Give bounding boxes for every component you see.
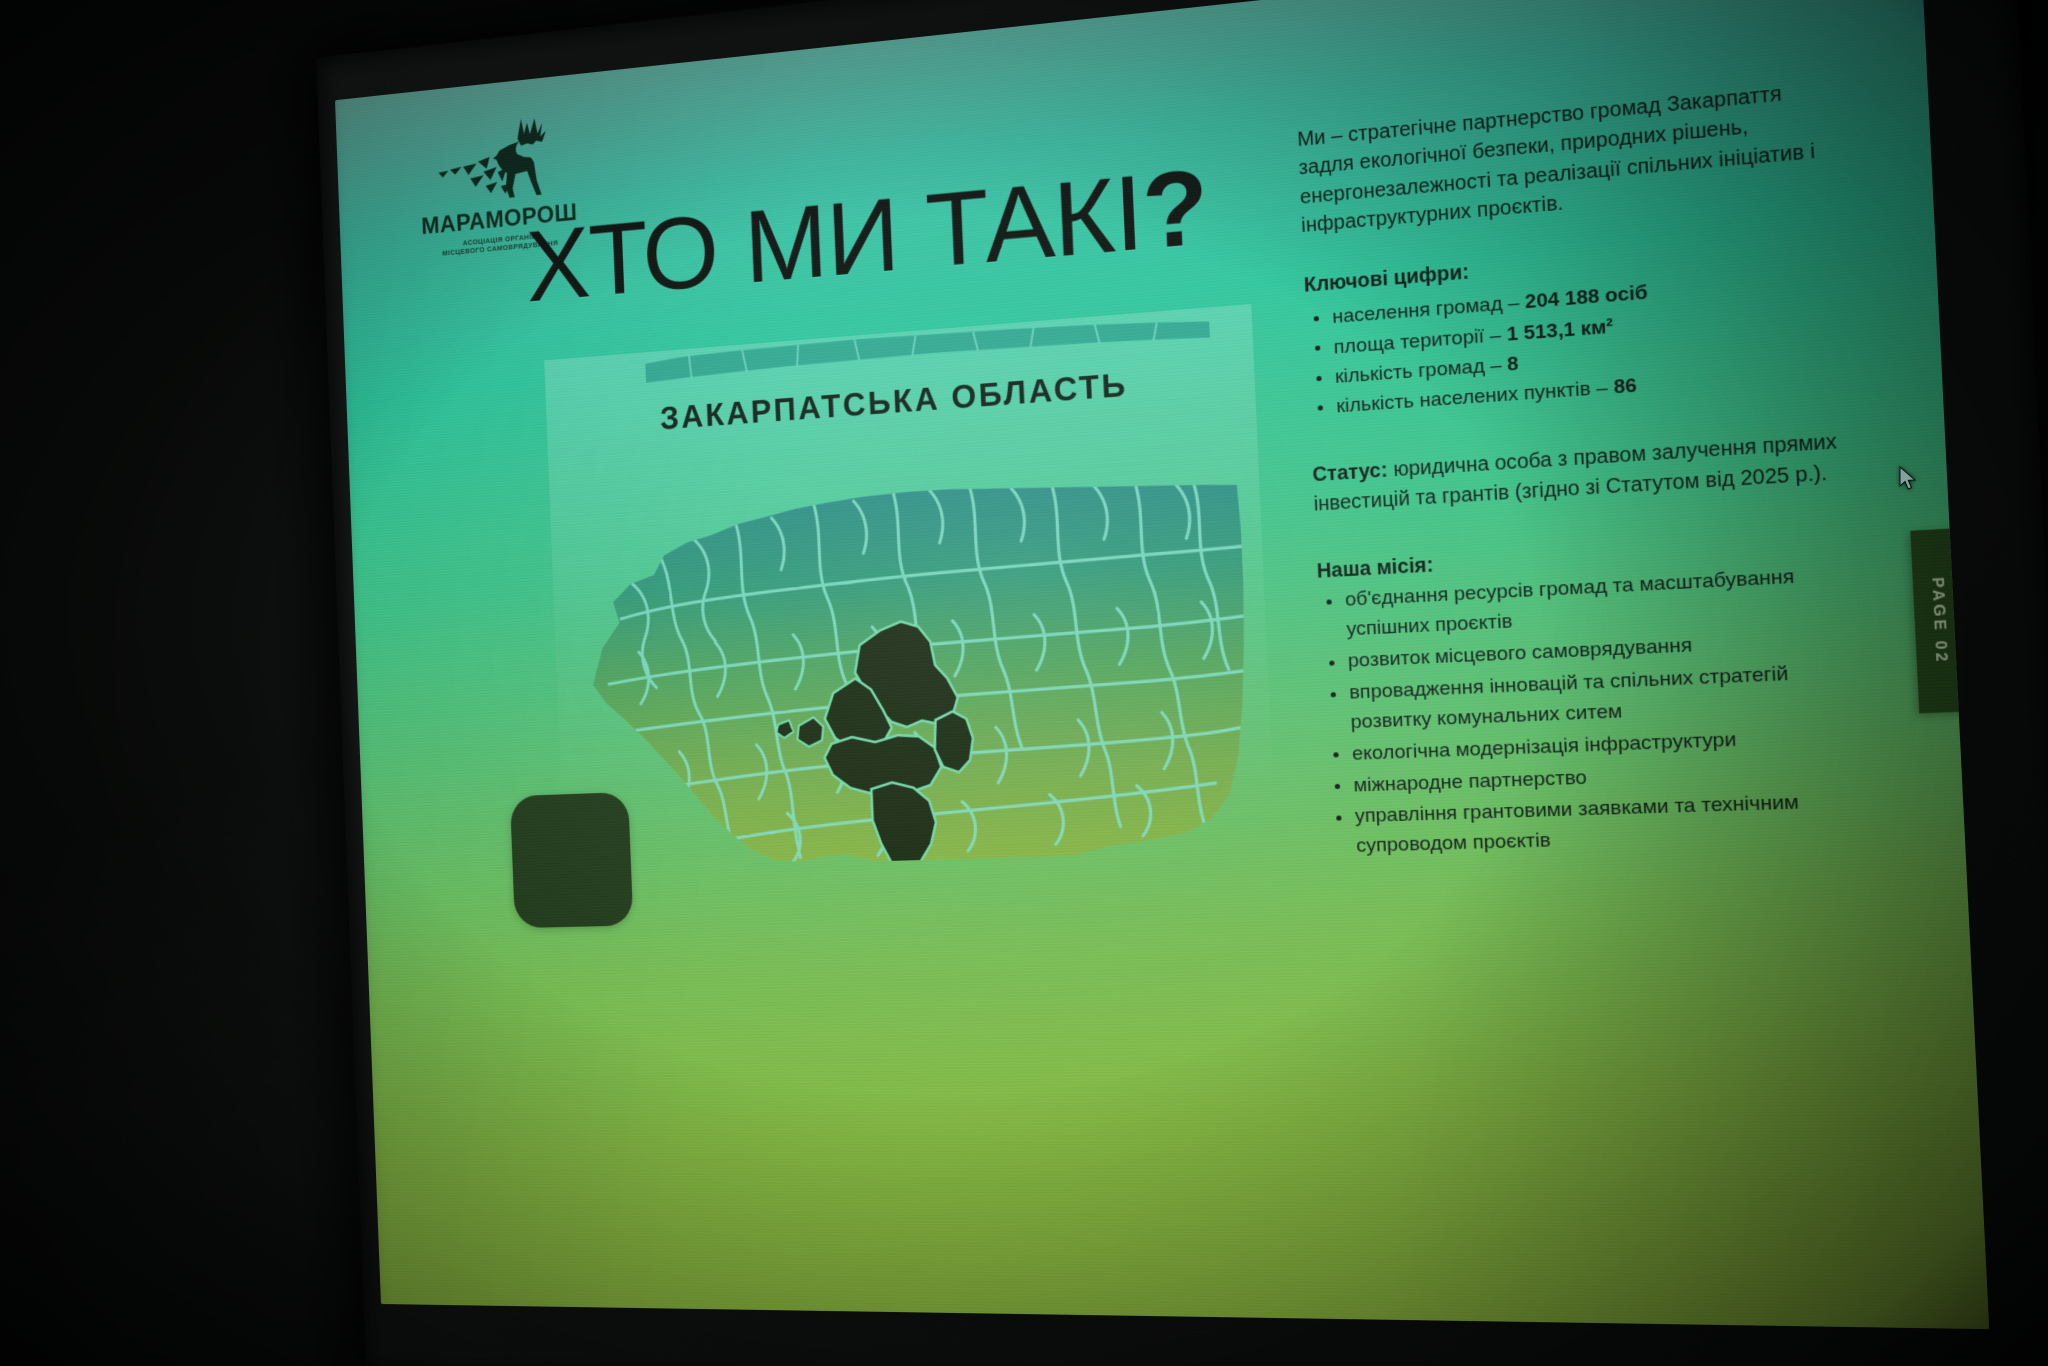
key-figure-label: кількість населених пунктів –: [1336, 377, 1614, 418]
key-figure-value: 8: [1507, 353, 1519, 376]
list-item: впровадження інновацій та спільних страт…: [1322, 656, 1869, 739]
key-figures-heading: Ключові цифри:: [1303, 230, 1846, 298]
key-figures-list: населення громад – 204 188 осіб площа те…: [1305, 262, 1853, 424]
list-item: управління грантовими заявками та техніч…: [1327, 786, 1875, 863]
status-paragraph: Статус: юридична особа з правом залученн…: [1312, 426, 1858, 520]
list-item: населення громад – 204 188 осіб: [1305, 262, 1848, 335]
mission-heading: Наша місія:: [1316, 531, 1861, 584]
key-figure-value: 1 513,1 км²: [1506, 315, 1614, 345]
key-figure-label: площа території –: [1333, 324, 1507, 358]
dark-room-background: МАРАМОРОШ АСОЦІАЦІЯ ОРГАНІВ МІСЦЕВОГО СА…: [0, 0, 2048, 1366]
projector-screen-bezel: МАРАМОРОШ АСОЦІАЦІЯ ОРГАНІВ МІСЦЕВОГО СА…: [316, 0, 2048, 1366]
slide-text-column: Ми – стратегічне партнерство громад Зака…: [1297, 74, 1876, 865]
presentation-slide[interactable]: МАРАМОРОШ АСОЦІАЦІЯ ОРГАНІВ МІСЦЕВОГО СА…: [335, 0, 1989, 1329]
intro-paragraph: Ми – стратегічне партнерство громад Зака…: [1297, 74, 1843, 240]
mouse-cursor-icon: [1898, 466, 1918, 492]
status-text: юридична особа з правом залучення прямих…: [1313, 430, 1837, 516]
list-item: об'єднання ресурсів громад та масштабува…: [1318, 560, 1865, 647]
key-figure-value: 86: [1613, 375, 1637, 399]
slide-title-question-mark: ?: [1140, 146, 1210, 272]
list-item: міжнародне партнерство: [1326, 753, 1872, 802]
list-item: кількість населених пунктів – 86: [1309, 356, 1853, 424]
page-number-tab: PAGE 02: [1910, 528, 1968, 713]
key-figure-label: кількість громад –: [1335, 354, 1508, 388]
projection-stage: МАРАМОРОШ АСОЦІАЦІЯ ОРГАНІВ МІСЦЕВОГО СА…: [0, 0, 2048, 1366]
key-figure-label: населення громад –: [1332, 292, 1526, 329]
key-figure-value: 204 188 осіб: [1525, 282, 1649, 313]
list-item: площа території – 1 513,1 км²: [1306, 293, 1849, 364]
list-item: екологічна модернізація інфраструктури: [1324, 720, 1870, 770]
deer-logo-icon: [412, 108, 583, 214]
projector-moire-pattern: [1056, 91, 1990, 1201]
page-number-label: PAGE 02: [1928, 577, 1951, 665]
mission-list: об'єднання ресурсів громад та масштабува…: [1318, 560, 1876, 863]
status-label: Статус:: [1312, 459, 1388, 486]
slide-title-text: ХТО МИ ТАКІ: [524, 152, 1145, 323]
list-item: кількість громад – 8: [1308, 325, 1852, 395]
decorative-rounded-square: [510, 792, 633, 928]
slide-title: ХТО МИ ТАКІ?: [524, 153, 1209, 318]
list-item: розвиток місцевого самоврядування: [1320, 623, 1865, 678]
region-map-block[interactable]: ЗАКАРПАТСЬКА ОБЛАСТЬ: [544, 304, 1275, 870]
